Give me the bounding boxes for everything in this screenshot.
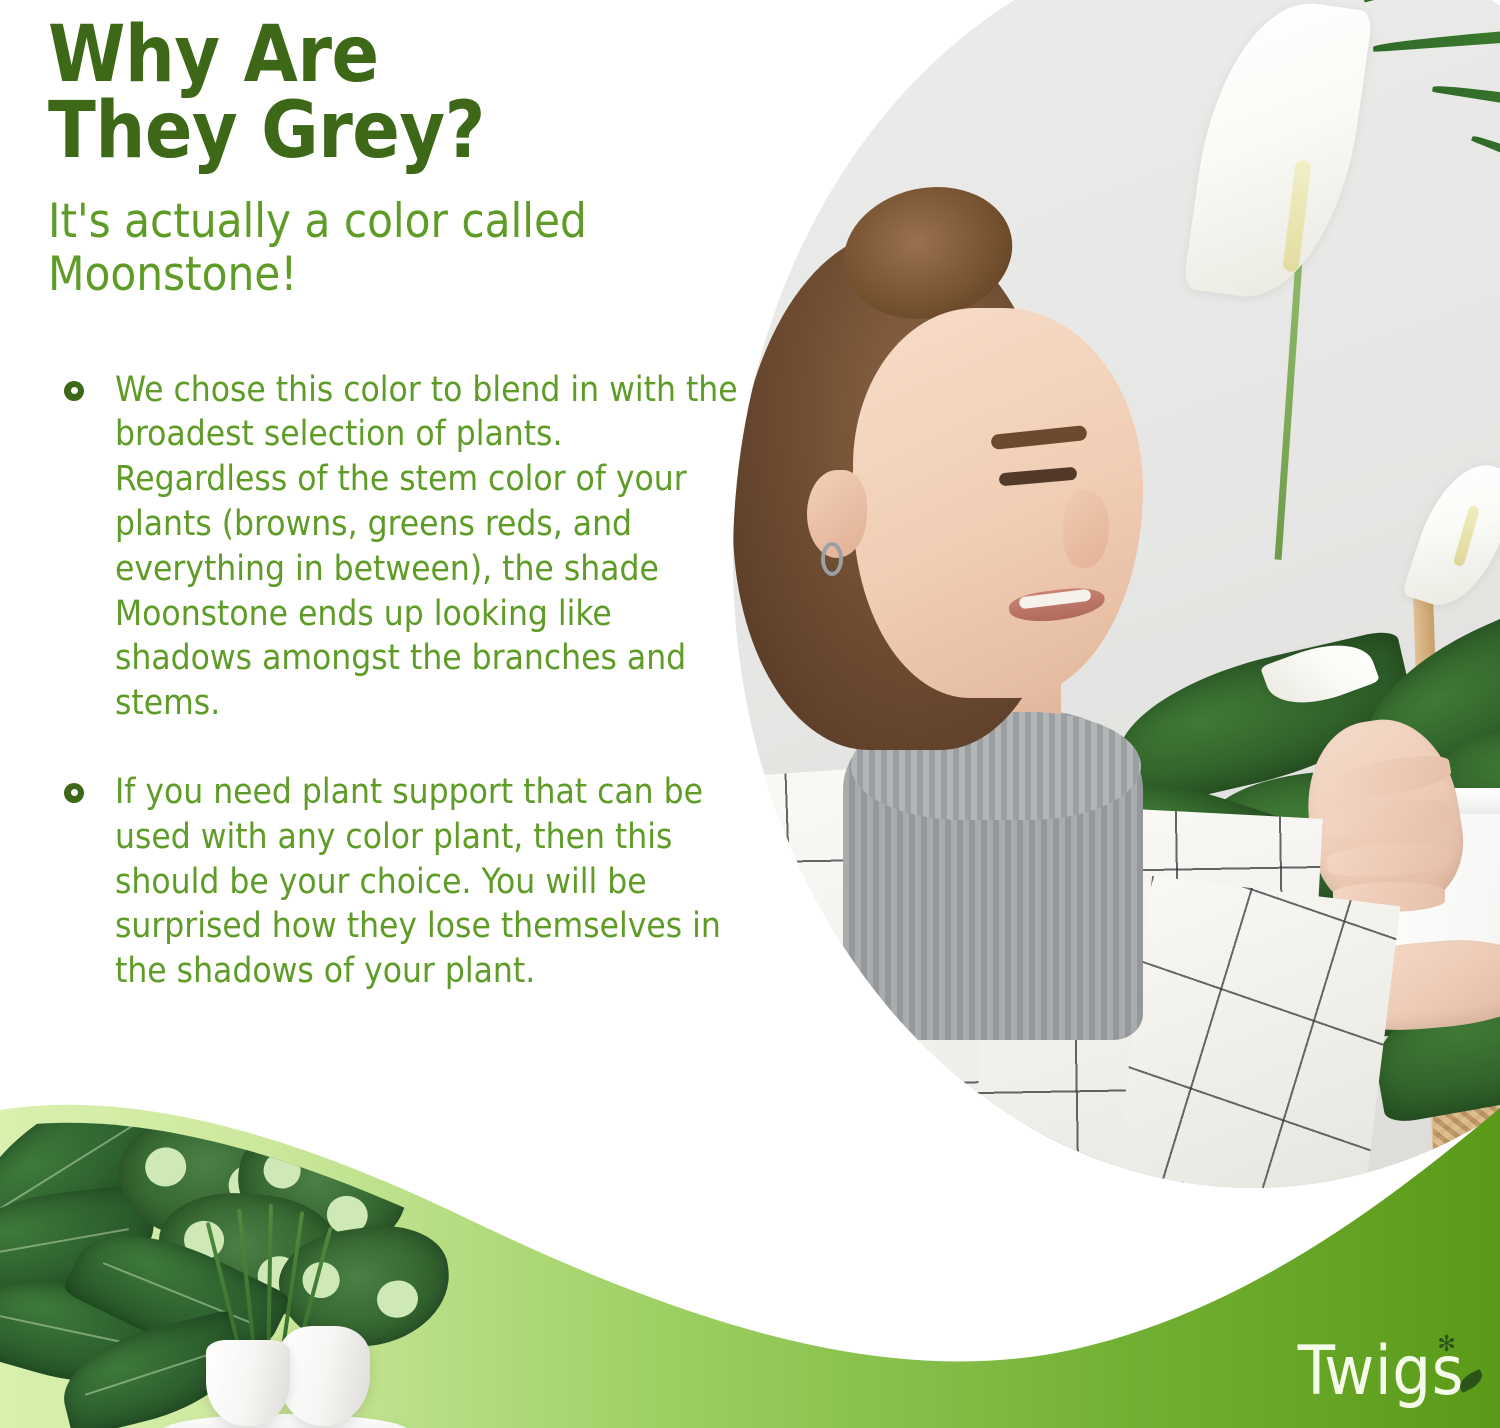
earring xyxy=(821,542,843,576)
lifestyle-photo xyxy=(733,0,1500,1188)
list-item: We chose this color to blend in with the… xyxy=(48,368,738,726)
list-item-text: We chose this color to blend in with the… xyxy=(115,368,738,726)
white-vase xyxy=(206,1340,290,1426)
ring-bullet-icon xyxy=(64,381,84,401)
white-vase xyxy=(278,1326,370,1426)
ring-bullet-icon xyxy=(64,783,84,803)
brand-logo: Twigs ✻ xyxy=(1298,1338,1464,1406)
star-flower-icon: ✻ xyxy=(1437,1334,1457,1354)
list-item: If you need plant support that can be us… xyxy=(48,770,738,994)
text-column: Why Are They Grey? It's actually a color… xyxy=(48,18,738,1038)
subtitle: It's actually a color called Moonstone! xyxy=(48,195,738,301)
list-item-text: If you need plant support that can be us… xyxy=(115,770,738,994)
page-title: Why Are They Grey? xyxy=(48,18,738,169)
round-table xyxy=(160,1414,410,1428)
bullet-list: We chose this color to blend in with the… xyxy=(48,368,738,994)
bottom-banner: Twigs ✻ xyxy=(0,1080,1500,1428)
